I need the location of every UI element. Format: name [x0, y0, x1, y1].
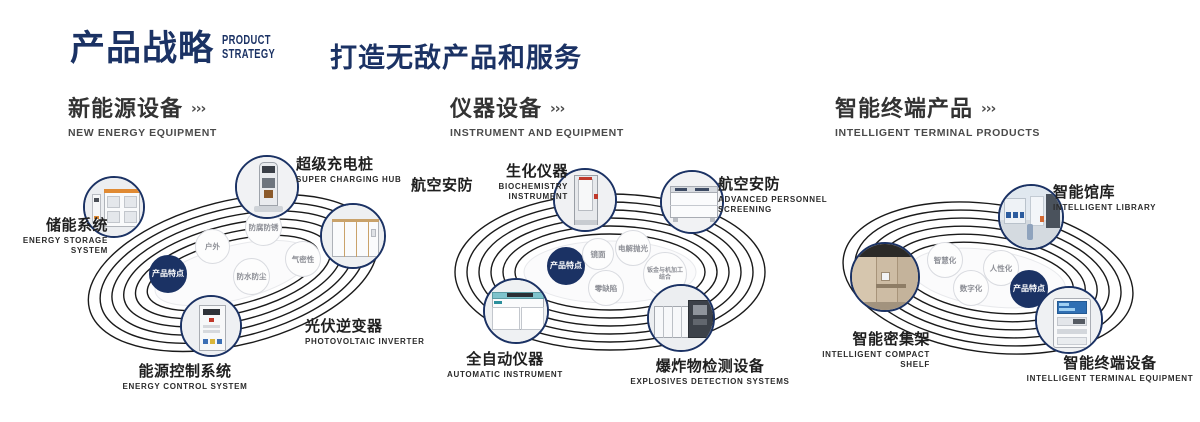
node-explosives-detection-systems[interactable]	[647, 284, 715, 352]
feature-bubble-mirror: 镜面	[582, 238, 614, 270]
label-automatic-instrument: 全自动仪器 AUTOMATIC INSTRUMENT	[420, 350, 590, 380]
label-en: INTELLIGENT COMPACT SHELF	[790, 350, 930, 370]
feature-bubble-label: 防水防尘	[237, 272, 267, 281]
section-heading-cn-text: 新能源设备	[68, 97, 183, 122]
section-heading-instrument: 仪器设备››› INSTRUMENT AND EQUIPMENT	[450, 96, 624, 139]
label-cn: 智能终端设备	[1020, 354, 1200, 372]
section-heading-cn: 智能终端产品›››	[835, 96, 1040, 123]
feature-bubble-label: 防腐防锈	[249, 223, 279, 232]
section-heading-cn-text: 智能终端产品	[835, 97, 973, 122]
label-cn: 智能密集架	[790, 330, 930, 348]
label-biochemistry-instrument: 生化仪器 BIOCHEMISTRY INSTRUMENT	[440, 162, 568, 202]
label-en: INTELLIGENT LIBRARY	[1053, 203, 1156, 213]
feature-bubble-label: 零缺陷	[595, 284, 618, 293]
page-title-english-line2: STRATEGY	[222, 47, 275, 61]
automatic-instrument-photo	[485, 280, 547, 342]
label-en: EXPLOSIVES DETECTION SYSTEMS	[620, 377, 800, 387]
feature-bubble-label: 人性化	[990, 264, 1013, 273]
label-cn: 储能系统	[0, 216, 108, 234]
section-heading-cn: 新能源设备›››	[68, 96, 217, 123]
label-cn: 超级充电桩	[296, 155, 402, 173]
feature-bubble-zero-defect: 零缺陷	[588, 270, 624, 306]
label-en: ENERGY STORAGE SYSTEM	[0, 236, 108, 256]
label-en: AUTOMATIC INSTRUMENT	[420, 370, 590, 380]
label-en: PHOTOVOLTAIC INVERTER	[305, 337, 425, 347]
label-cn: 能源控制系统	[85, 362, 285, 380]
core-bubble-product-features: 产品特点	[547, 247, 585, 285]
feature-bubble-waterproof: 防水防尘	[233, 258, 270, 295]
core-bubble-label: 产品特点	[550, 261, 582, 271]
label-energy-control-system: 能源控制系统 ENERGY CONTROL SYSTEM	[85, 362, 285, 392]
node-super-charging-hub[interactable]	[235, 155, 299, 219]
label-cn: 爆炸物检测设备	[620, 357, 800, 375]
label-intelligent-compact-shelf: 智能密集架 INTELLIGENT COMPACT SHELF	[790, 330, 930, 370]
section-heading-en: NEW ENERGY EQUIPMENT	[68, 127, 217, 139]
chevrons-right-icon: ›››	[191, 96, 205, 122]
terminal-equipment-photo	[1037, 288, 1101, 352]
label-intelligent-terminal-equipment: 智能终端设备 INTELLIGENT TERMINAL EQUIPMENT	[1020, 354, 1200, 384]
label-cn: 光伏逆变器	[305, 317, 425, 335]
feature-bubble-label: 户外	[205, 242, 220, 251]
energy-control-photo	[182, 297, 240, 355]
label-en: ADVANCED PERSONNEL SCREENING	[718, 195, 827, 215]
personnel-screening-photo	[662, 172, 722, 232]
explosives-detection-photo	[649, 286, 713, 350]
node-automatic-instrument[interactable]	[483, 278, 549, 344]
feature-bubble-label: 镜面	[591, 250, 606, 259]
photovoltaic-inverter-photo	[322, 205, 384, 267]
node-intelligent-compact-shelf[interactable]	[850, 242, 920, 312]
page-subtitle: 打造无敌产品和服务	[330, 36, 582, 75]
charging-hub-photo	[237, 157, 297, 217]
label-intelligent-library: 智能馆库 INTELLIGENT LIBRARY	[1053, 183, 1156, 213]
feature-bubble-airtight: 气密性	[285, 241, 321, 277]
chevrons-right-icon: ›››	[981, 96, 995, 122]
compact-shelf-photo	[852, 244, 918, 310]
label-cn: 智能馆库	[1053, 183, 1156, 201]
label-photovoltaic-inverter: 光伏逆变器 PHOTOVOLTAIC INVERTER	[305, 317, 425, 347]
feature-bubble-electropolishing: 电解抛光	[615, 230, 651, 266]
section-heading-en: INTELLIGENT TERMINAL PRODUCTS	[835, 127, 1040, 139]
product-strategy-infographic: 产品战略 PRODUCT STRATEGY 打造无敌产品和服务 新能源设备›››…	[0, 0, 1200, 422]
label-en: SUPER CHARGING HUB	[296, 175, 402, 185]
feature-bubble-intelligence: 智慧化	[927, 242, 963, 278]
section-heading-cn: 仪器设备›››	[450, 96, 624, 123]
feature-bubble-label: 电解抛光	[618, 244, 648, 253]
label-explosives-detection-systems: 爆炸物检测设备 EXPLOSIVES DETECTION SYSTEMS	[620, 357, 800, 387]
page-title-english: PRODUCT STRATEGY	[222, 33, 275, 61]
label-super-charging-hub: 超级充电桩 SUPER CHARGING HUB	[296, 155, 402, 185]
label-en: INTELLIGENT TERMINAL EQUIPMENT	[1020, 374, 1200, 384]
label-cn: 航空安防	[718, 175, 827, 193]
label-en: BIOCHEMISTRY INSTRUMENT	[440, 182, 568, 202]
section-heading-en: INSTRUMENT AND EQUIPMENT	[450, 127, 624, 139]
page-header: 产品战略 PRODUCT STRATEGY 打造无敌产品和服务	[0, 0, 1200, 86]
node-advanced-personnel-screening[interactable]	[660, 170, 724, 234]
section-heading-new-energy: 新能源设备››› NEW ENERGY EQUIPMENT	[68, 96, 217, 139]
page-title-english-line1: PRODUCT	[222, 33, 275, 47]
node-energy-control-system[interactable]	[180, 295, 242, 357]
label-energy-storage-system: 储能系统 ENERGY STORAGE SYSTEM	[0, 216, 108, 256]
label-advanced-personnel-screening: 航空安防 ADVANCED PERSONNEL SCREENING	[718, 175, 827, 215]
section-heading-intelligent-terminal: 智能终端产品››› INTELLIGENT TERMINAL PRODUCTS	[835, 96, 1040, 139]
feature-bubble-outdoor: 户外	[195, 229, 230, 264]
label-cn: 全自动仪器	[420, 350, 590, 368]
feature-bubble-label: 气密性	[292, 255, 315, 264]
label-en: ENERGY CONTROL SYSTEM	[85, 382, 285, 392]
page-title: 产品战略	[70, 28, 214, 70]
feature-bubble-label: 钣金与机加工结合	[644, 267, 686, 282]
node-photovoltaic-inverter[interactable]	[320, 203, 386, 269]
core-bubble-label: 产品特点	[152, 269, 184, 279]
node-intelligent-terminal-equipment[interactable]	[1035, 286, 1103, 354]
label-cn: 生化仪器	[440, 162, 568, 180]
feature-bubble-label: 智慧化	[934, 256, 957, 265]
section-heading-cn-text: 仪器设备	[450, 97, 542, 122]
chevrons-right-icon: ›››	[550, 96, 564, 122]
diagram-new-energy: 产品特点 户外 防腐防锈 防水防尘 气密性	[55, 155, 415, 390]
feature-bubble-label: 数字化	[960, 284, 983, 293]
core-bubble-product-features: 产品特点	[149, 255, 187, 293]
